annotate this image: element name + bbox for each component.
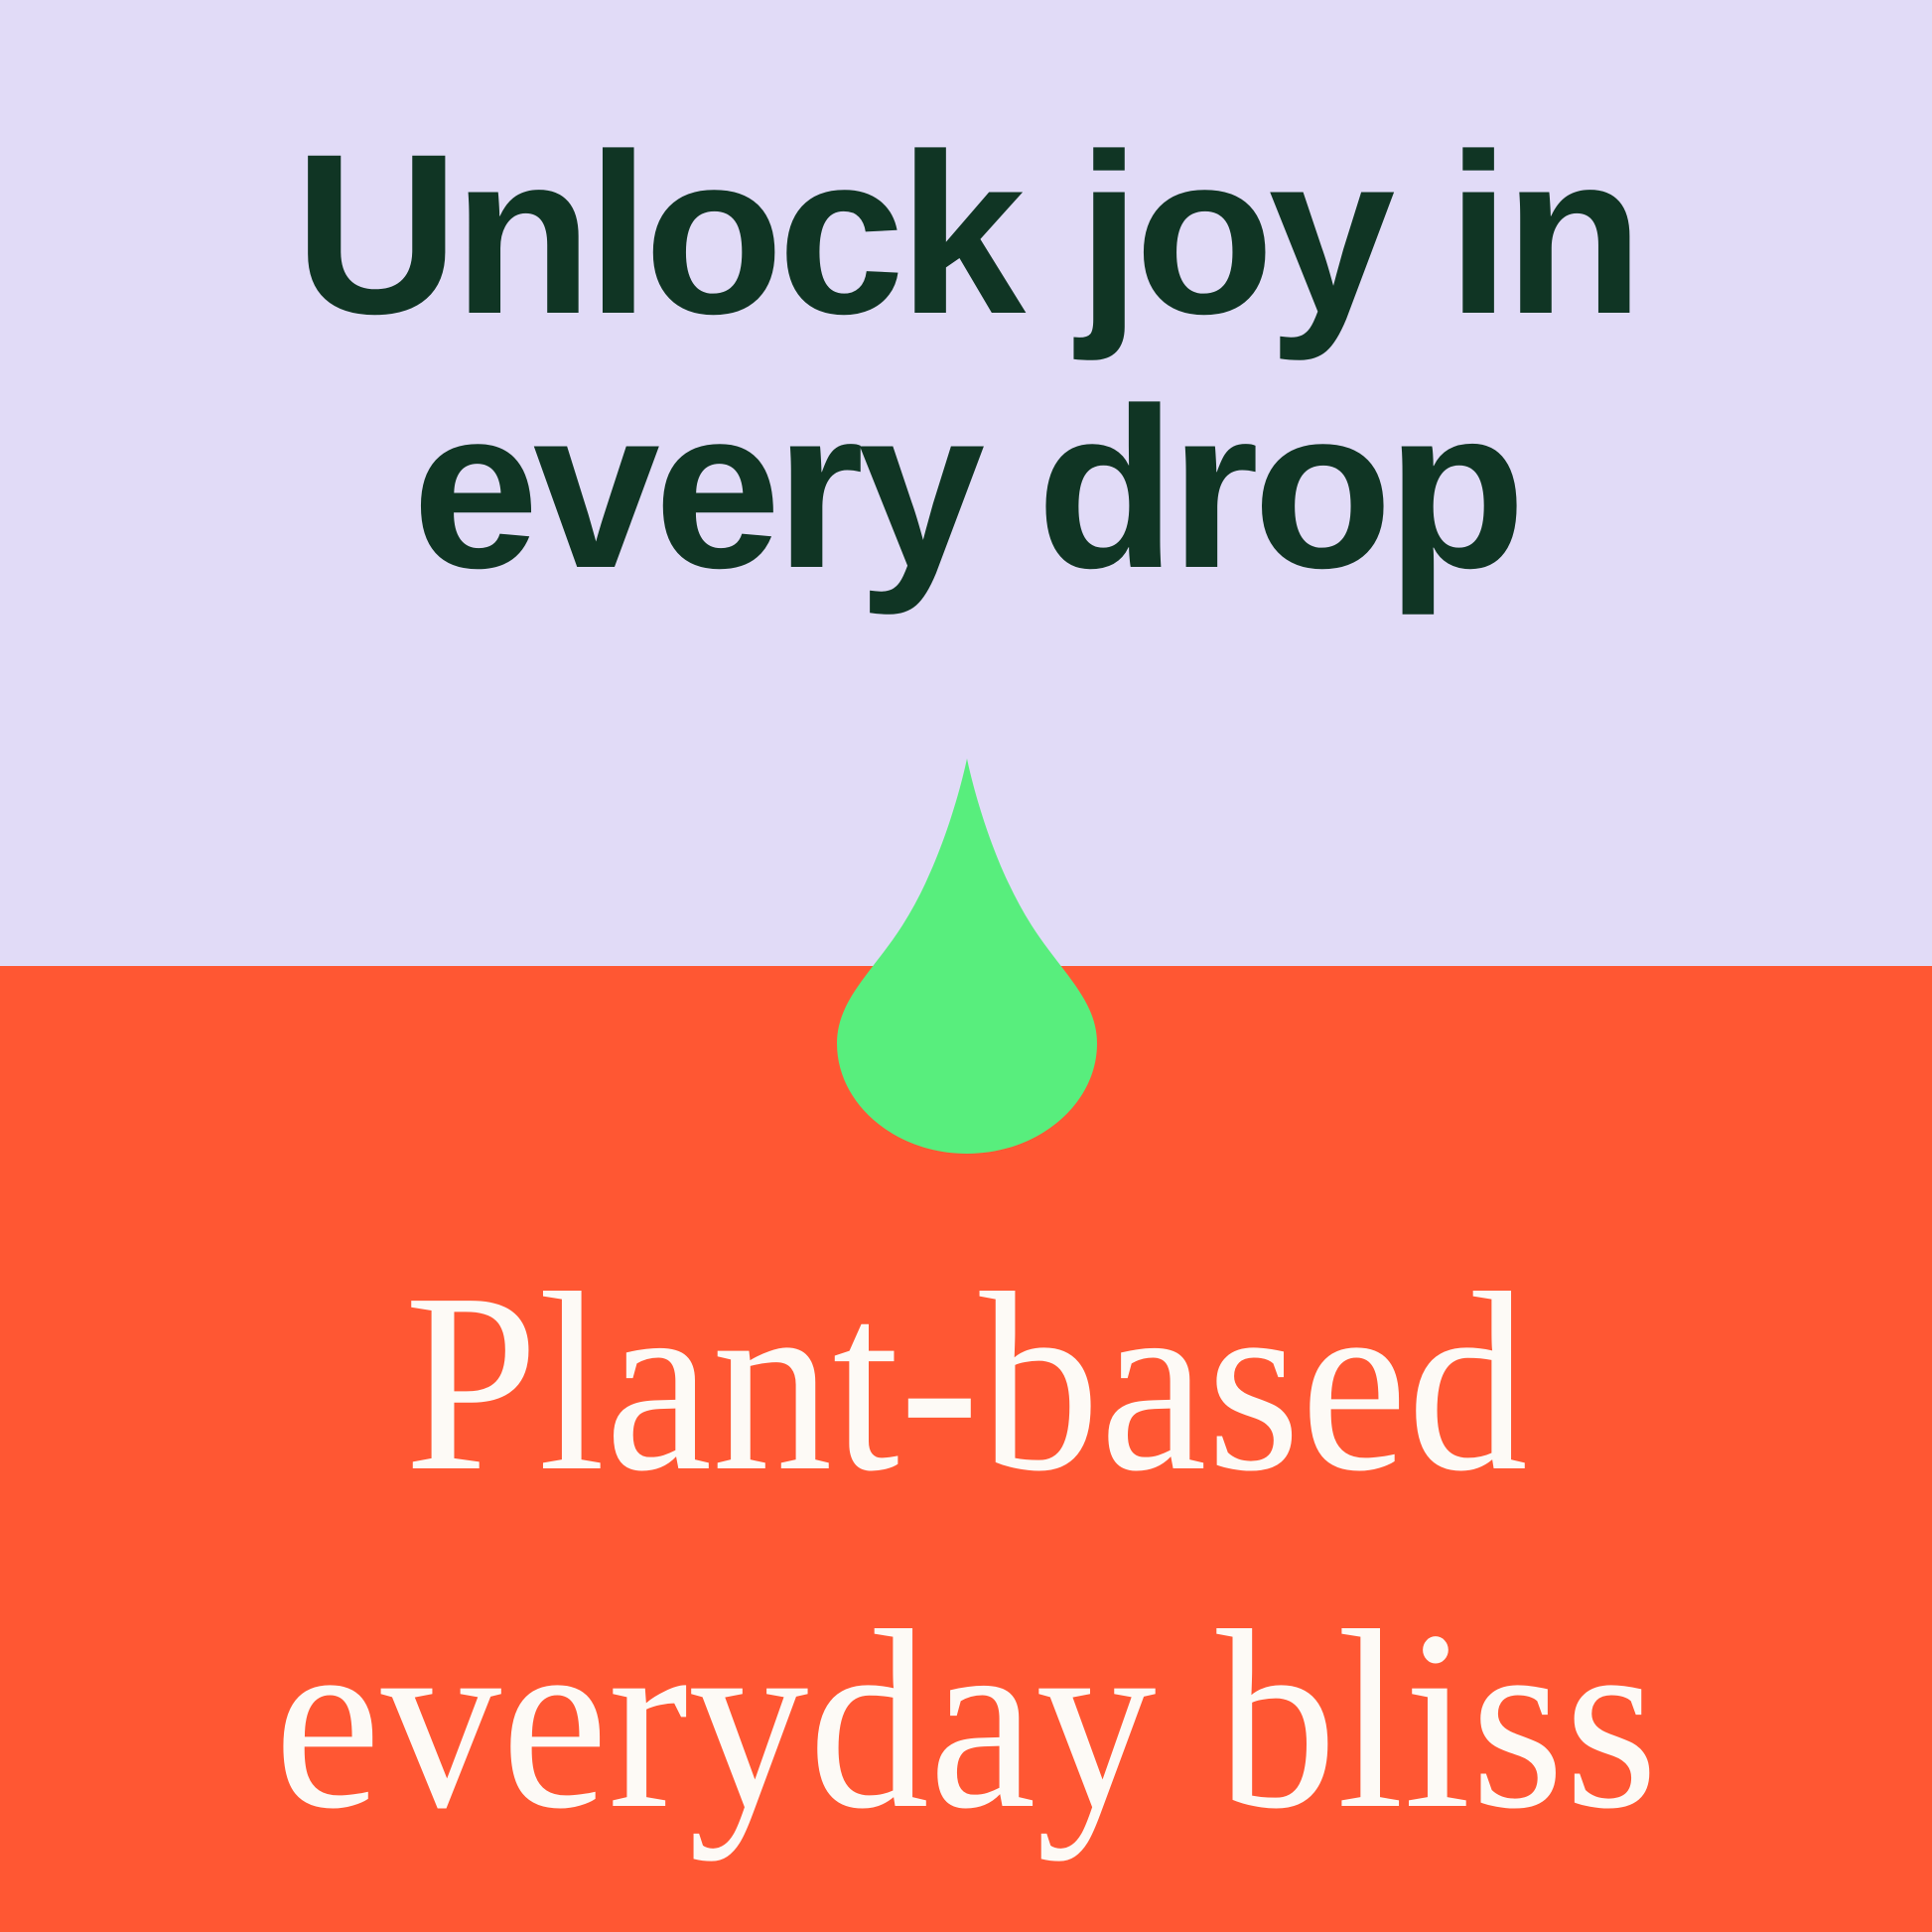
headline: Unlock joy in every drop	[0, 107, 1932, 616]
subline-line-1: Plant-based	[58, 1213, 1873, 1551]
water-drop-icon	[837, 759, 1097, 1154]
subline: Plant-based everyday bliss	[58, 1213, 1873, 1888]
headline-line-2: every drop	[0, 361, 1932, 616]
promo-poster: Unlock joy in every drop Plant-based eve…	[0, 0, 1932, 1932]
subline-line-2: everyday bliss	[58, 1551, 1873, 1888]
headline-line-1: Unlock joy in	[0, 107, 1932, 361]
